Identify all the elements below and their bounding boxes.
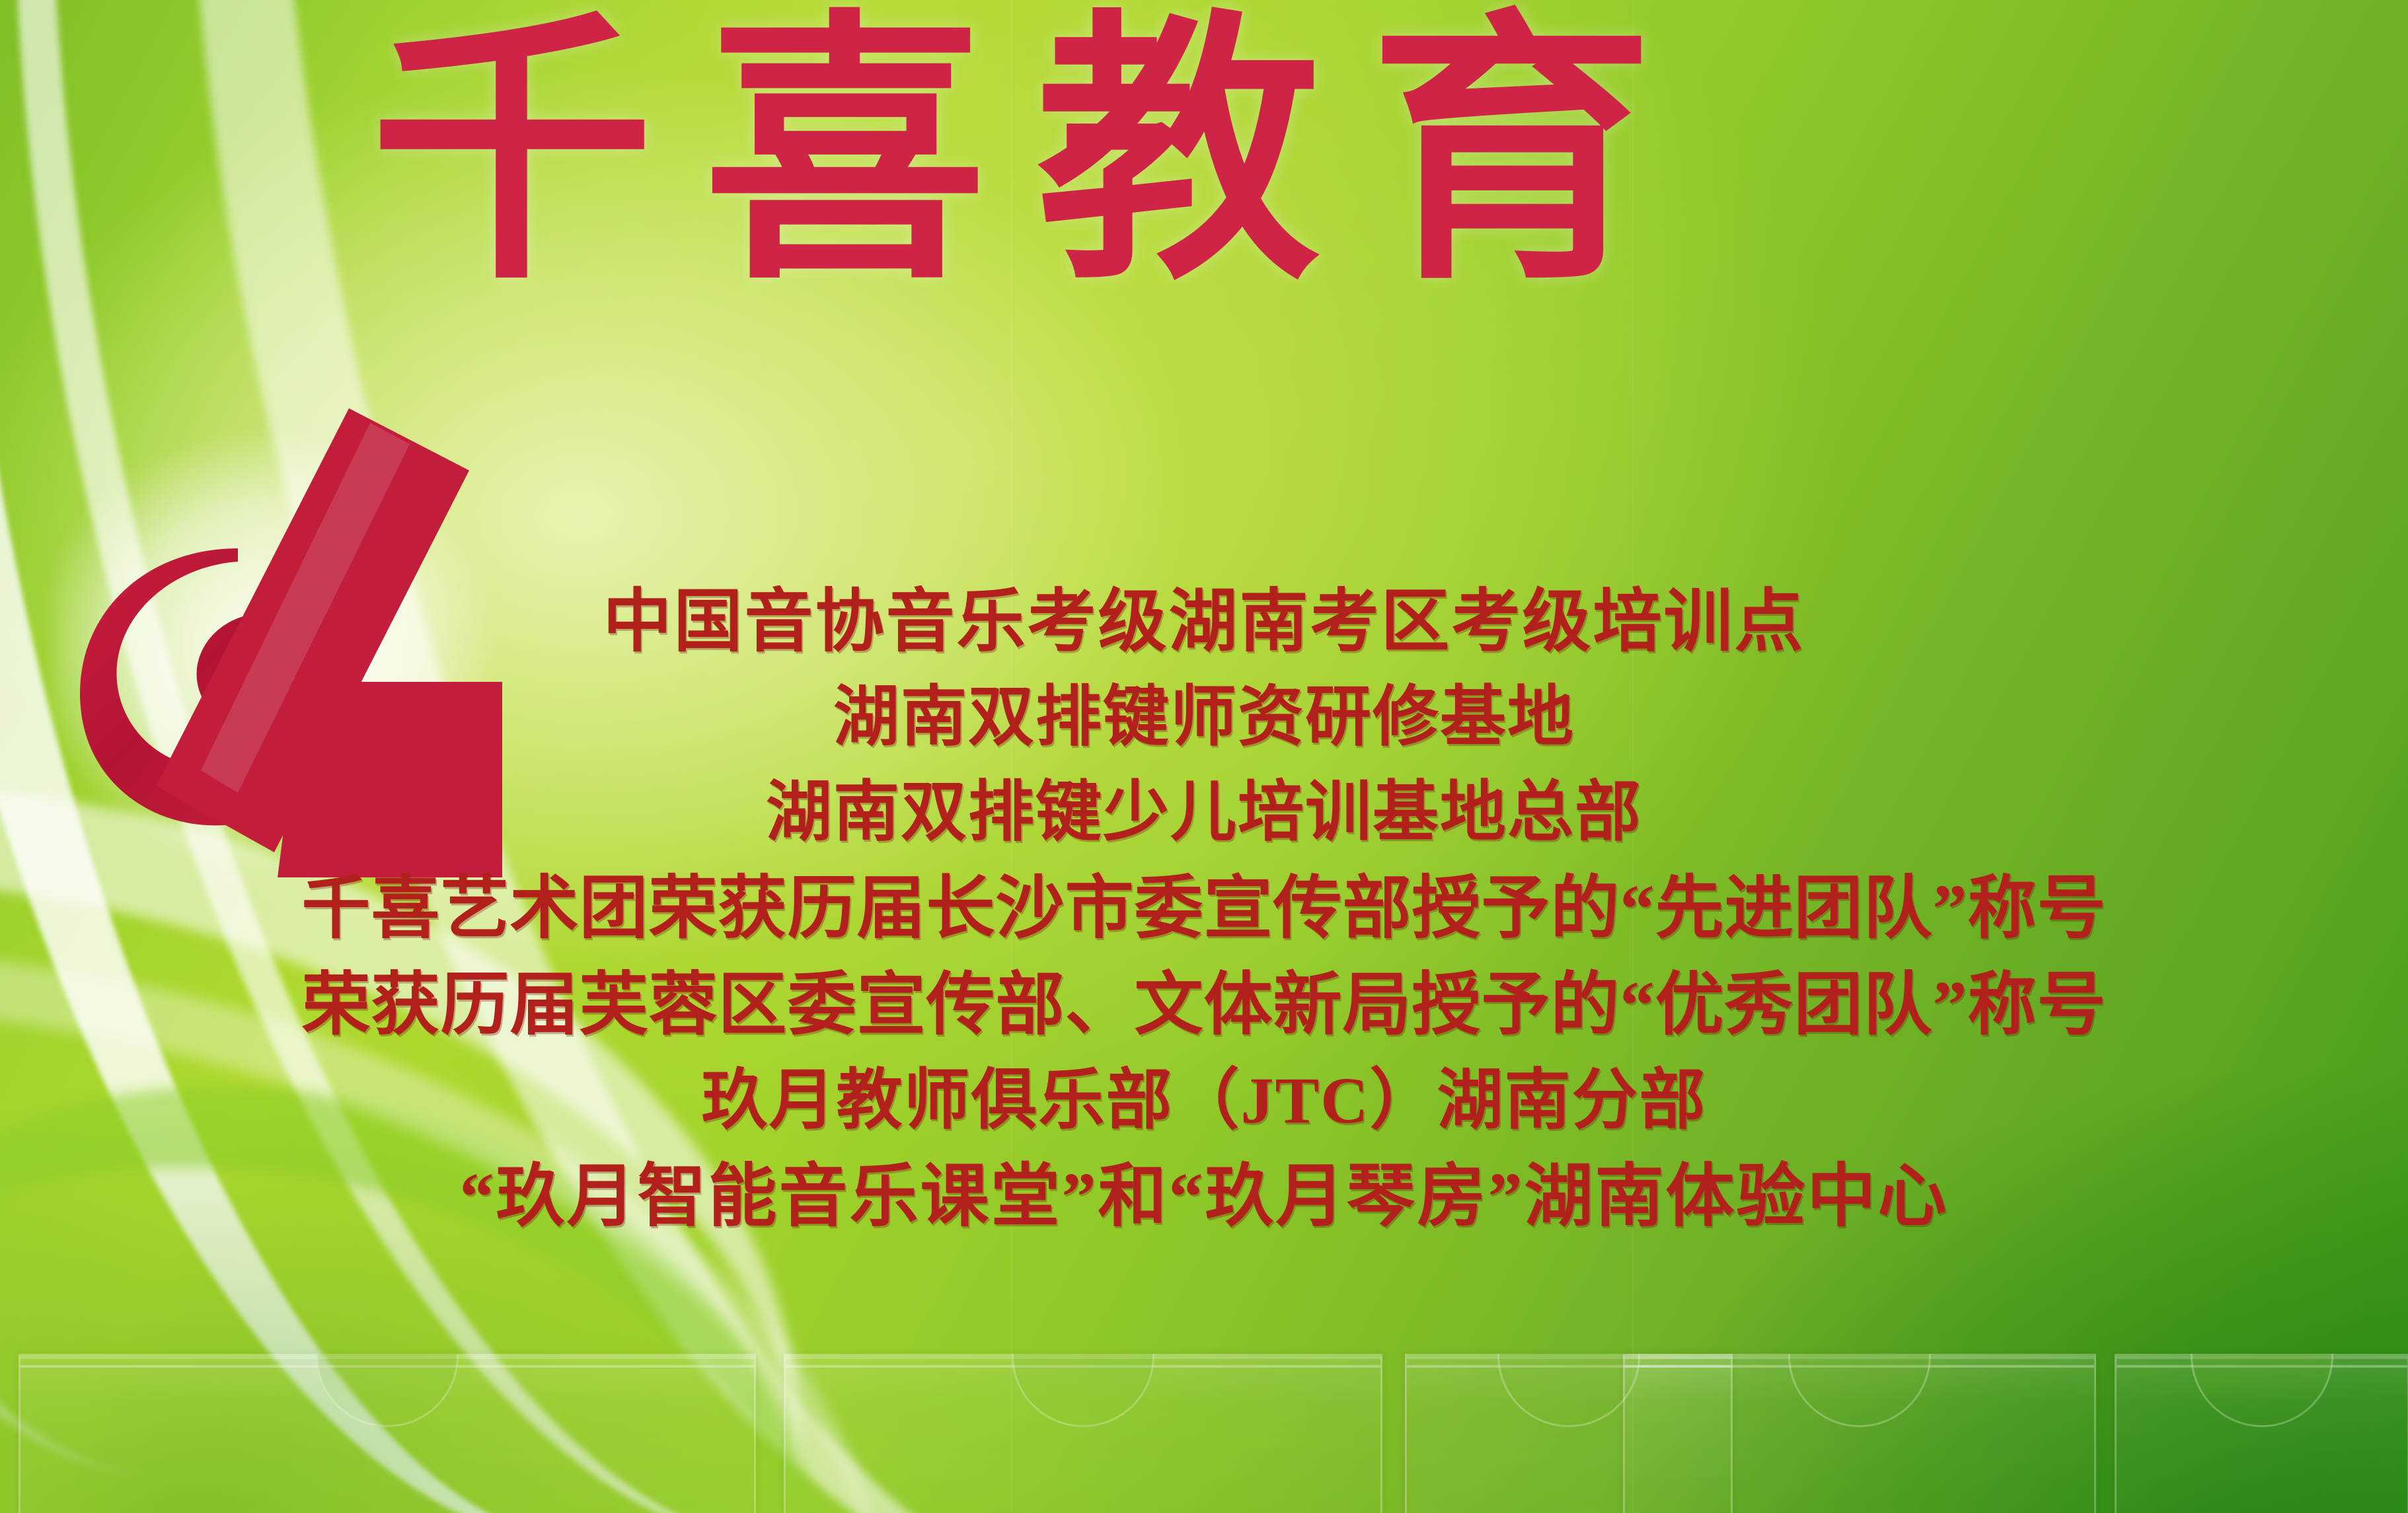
holder-notch bbox=[1012, 1354, 1154, 1427]
credential-line: 湖南双排键少儿培训基地总部 bbox=[0, 780, 2408, 846]
signage-wall: 千喜教育 中国音协音乐考级湖南考区考级培训点 湖南双排键师资研修基地 湖南双排键… bbox=[0, 0, 2408, 1513]
holder-notch bbox=[1497, 1354, 1640, 1427]
credential-line: 湖南双排键师资研修基地 bbox=[0, 684, 2408, 751]
credential-list: 中国音协音乐考级湖南考区考级培训点 湖南双排键师资研修基地 湖南双排键少儿培训基… bbox=[0, 588, 2408, 1259]
credential-line: “玖月智能音乐课堂”和“玖月琴房”湖南体验中心 bbox=[0, 1163, 2408, 1232]
holder-notch bbox=[1788, 1354, 1931, 1427]
credential-line: 荣获历届芙蓉区委宣传部、文体新局授予的“优秀团队”称号 bbox=[0, 971, 2408, 1040]
holder-notch bbox=[316, 1354, 459, 1427]
brochure-holder[interactable] bbox=[1623, 1354, 2096, 1513]
credential-line: 中国音协音乐考级湖南考区考级培训点 bbox=[0, 588, 2408, 657]
credential-line: 玖月教师俱乐部（JTC）湖南分部 bbox=[0, 1068, 2408, 1134]
credential-line: 千喜艺术团荣获历届长沙市委宣传部授予的“先进团队”称号 bbox=[0, 875, 2408, 943]
page-title: 千喜教育 bbox=[370, 13, 2154, 297]
brochure-holder[interactable] bbox=[19, 1354, 756, 1513]
brochure-holder[interactable] bbox=[784, 1354, 1382, 1513]
brochure-holder[interactable] bbox=[2115, 1354, 2408, 1513]
holder-notch bbox=[2191, 1354, 2333, 1427]
